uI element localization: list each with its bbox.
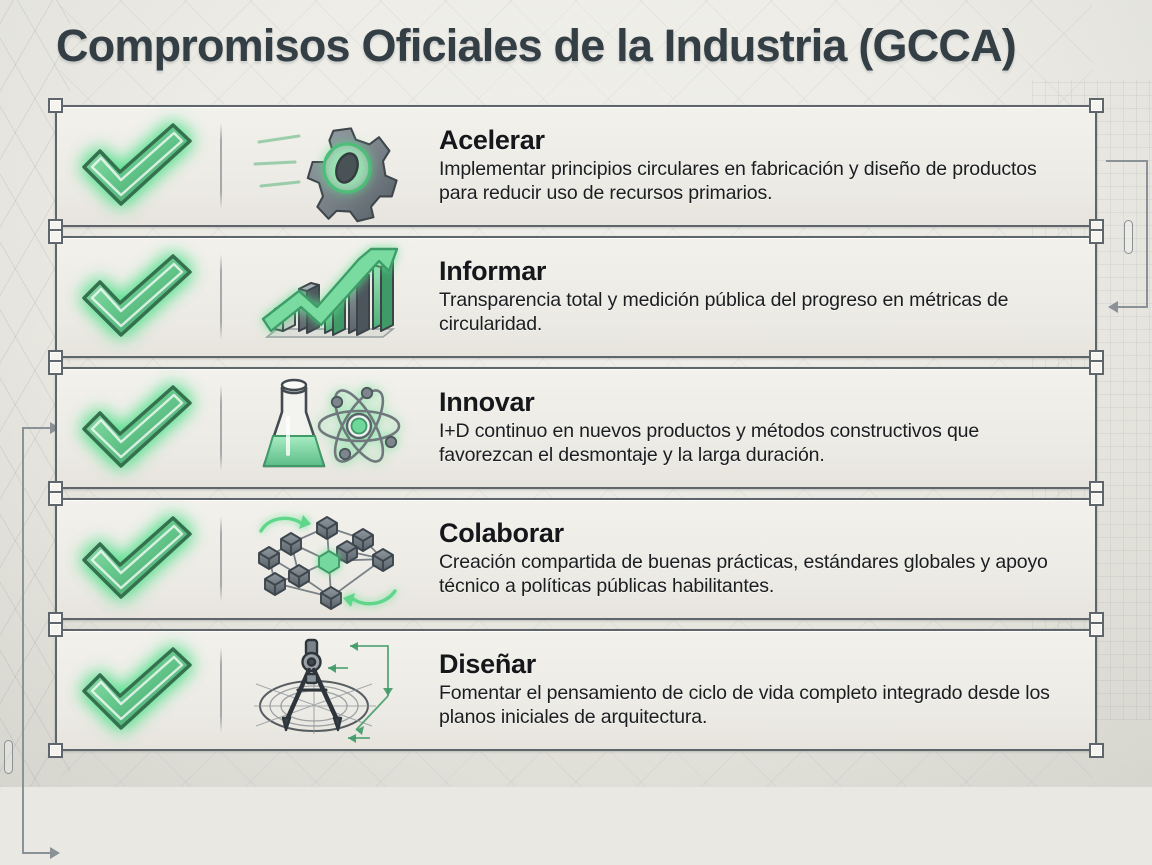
network-nodes-icon xyxy=(255,505,405,613)
topic-icon-cell xyxy=(237,369,422,487)
selection-handle-bottom-right[interactable] xyxy=(1089,743,1104,758)
commitment-row-disenar[interactable]: Diseñar Fomentar el pensamiento de ciclo… xyxy=(55,629,1097,751)
check-cell xyxy=(57,369,217,487)
row-divider xyxy=(220,123,222,209)
check-cell xyxy=(57,500,217,618)
commitment-description: I+D continuo en nuevos productos y métod… xyxy=(439,419,1071,468)
flask-atom-icon xyxy=(255,374,405,482)
check-cell xyxy=(57,238,217,356)
text-cell: Diseñar Fomentar el pensamiento de ciclo… xyxy=(439,631,1071,749)
row-divider xyxy=(220,254,222,340)
selection-handle-top-right[interactable] xyxy=(1089,622,1104,637)
green-checkmark-icon xyxy=(74,513,200,605)
green-checkmark-icon xyxy=(74,251,200,343)
commitment-description: Fomentar el pensamiento de ciclo de vida… xyxy=(439,681,1071,730)
commitment-title: Diseñar xyxy=(439,650,1071,678)
text-cell: Acelerar Implementar principios circular… xyxy=(439,107,1071,225)
growth-bar-chart-icon xyxy=(255,243,405,351)
check-cell xyxy=(57,631,217,749)
green-checkmark-icon xyxy=(74,644,200,736)
selection-handle-top-right[interactable] xyxy=(1089,229,1104,244)
check-cell xyxy=(57,107,217,225)
row-divider xyxy=(220,516,222,602)
selection-handle-top-right[interactable] xyxy=(1089,360,1104,375)
commitment-description: Transparencia total y medición pública d… xyxy=(439,288,1071,337)
commitment-title: Colaborar xyxy=(439,519,1071,547)
commitment-title: Informar xyxy=(439,257,1071,285)
topic-icon-cell xyxy=(237,107,422,225)
commitment-title: Acelerar xyxy=(439,126,1071,154)
connector-pill-right xyxy=(1124,220,1133,254)
drafting-compass-icon xyxy=(252,634,407,746)
green-checkmark-icon xyxy=(74,120,200,212)
commitment-description: Implementar principios circulares en fab… xyxy=(439,157,1071,206)
text-cell: Colaborar Creación compartida de buenas … xyxy=(439,500,1071,618)
connector-bracket-right xyxy=(1106,160,1152,310)
connector-pill-left xyxy=(4,740,13,774)
commitment-row-informar[interactable]: Informar Transparencia total y medición … xyxy=(55,236,1097,358)
commitment-description: Creación compartida de buenas prácticas,… xyxy=(439,550,1071,599)
commitment-row-acelerar[interactable]: Acelerar Implementar principios circular… xyxy=(55,105,1097,227)
topic-icon-cell xyxy=(237,238,422,356)
commitment-row-colaborar[interactable]: Colaborar Creación compartida de buenas … xyxy=(55,498,1097,620)
commitment-row-innovar[interactable]: Innovar I+D continuo en nuevos productos… xyxy=(55,367,1097,489)
row-divider xyxy=(220,647,222,733)
row-divider xyxy=(220,385,222,471)
gear-motion-icon xyxy=(255,112,405,220)
page-title: Compromisos Oficiales de la Industria (G… xyxy=(56,20,1016,72)
text-cell: Informar Transparencia total y medición … xyxy=(439,238,1071,356)
topic-icon-cell xyxy=(237,631,422,749)
selection-handle-top-right[interactable] xyxy=(1089,98,1104,113)
topic-icon-cell xyxy=(237,500,422,618)
selection-handle-top-right[interactable] xyxy=(1089,491,1104,506)
text-cell: Innovar I+D continuo en nuevos productos… xyxy=(439,369,1071,487)
green-checkmark-icon xyxy=(74,382,200,474)
commitment-title: Innovar xyxy=(439,388,1071,416)
